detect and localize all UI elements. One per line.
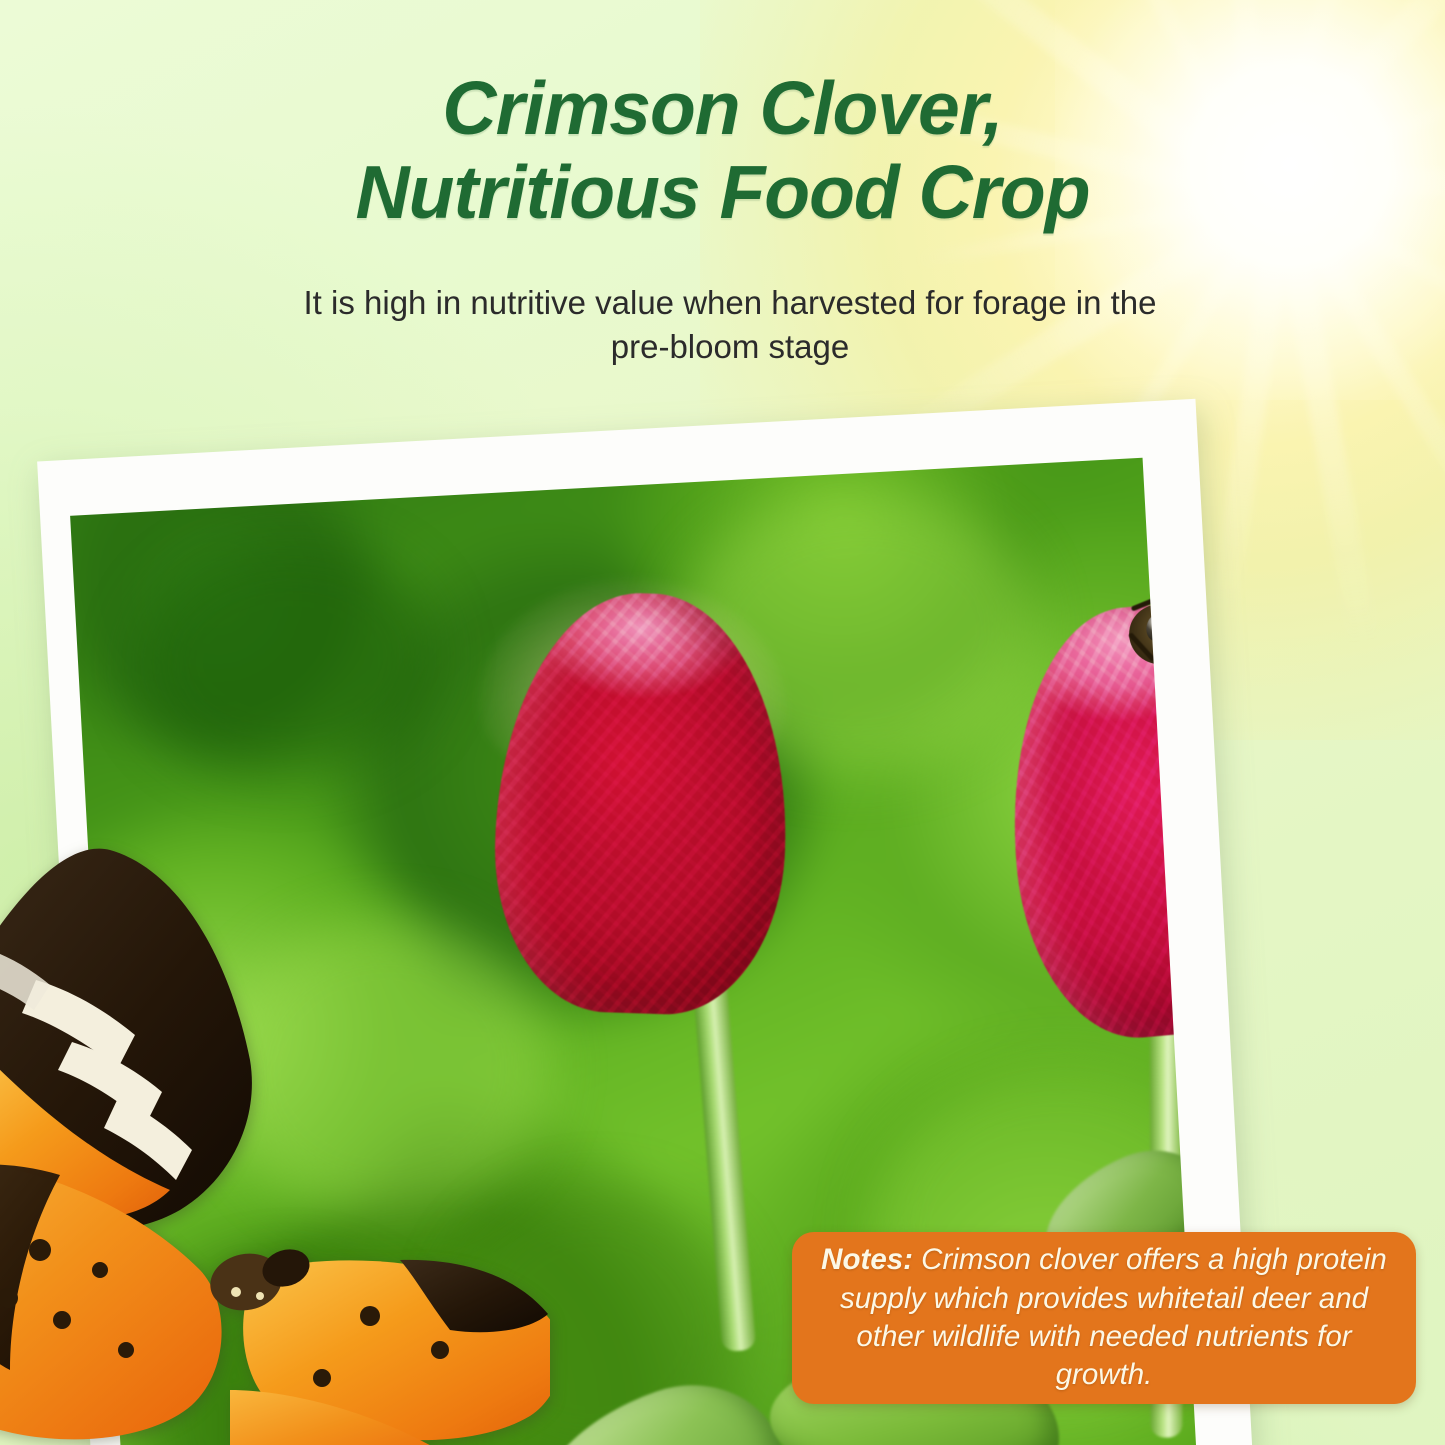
notes-label: Notes: [821,1243,921,1276]
notes-callout: Notes: Crimson clover offers a high prot… [792,1232,1416,1404]
notes-body: Crimson clover offers a high protein sup… [840,1243,1387,1391]
notes-text: Notes: Crimson clover offers a high prot… [810,1241,1398,1394]
butterfly-overlay [0,830,550,1445]
page-title: Crimson Clover, Nutritious Food Crop [0,66,1445,234]
infographic-canvas: Crimson Clover, Nutritious Food Crop It … [0,0,1445,1445]
page-subtitle: It is high in nutritive value when harve… [190,281,1270,368]
